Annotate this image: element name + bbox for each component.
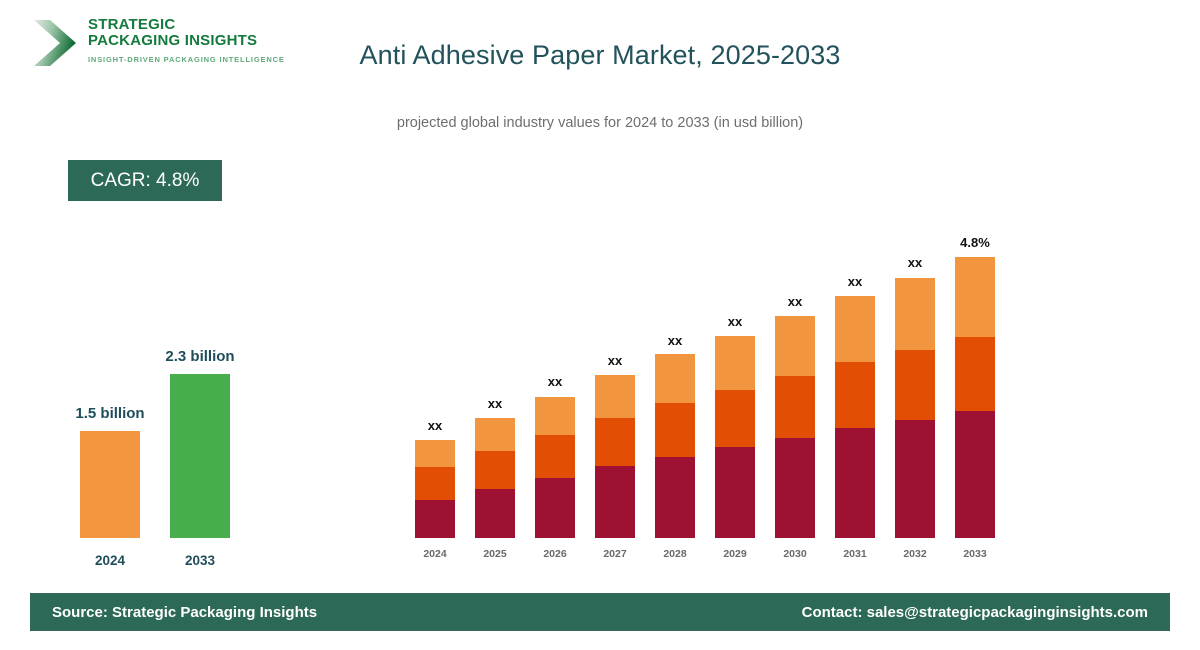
stacked-segment-segment-3-2025 <box>475 418 515 451</box>
stacked-bar-2025 <box>475 418 515 538</box>
stacked-segment-segment-3-2033 <box>955 257 995 337</box>
stacked-bar-year-label-2028: 2028 <box>652 548 698 560</box>
stacked-segment-segment-2-2031 <box>835 362 875 428</box>
stacked-segment-segment-1-2028 <box>655 457 695 538</box>
stacked-bar-2030 <box>775 316 815 538</box>
stacked-bar-year-label-2024: 2024 <box>412 548 458 560</box>
stacked-bar-year-label-2025: 2025 <box>472 548 518 560</box>
bar-value-label-2024: 1.5 billion <box>35 405 185 422</box>
stacked-segment-segment-1-2029 <box>715 447 755 538</box>
bar-value-label-2033: 2.3 billion <box>125 348 275 365</box>
stacked-bar-column-2033: 4.8%2033 <box>955 200 995 560</box>
stacked-segment-segment-2-2028 <box>655 403 695 457</box>
cagr-badge: CAGR: 4.8% <box>68 160 222 201</box>
brand-name-line1: STRATEGIC <box>88 17 285 33</box>
stacked-segment-segment-1-2030 <box>775 438 815 538</box>
stacked-segment-segment-1-2026 <box>535 478 575 538</box>
bar-2024 <box>80 431 140 538</box>
stacked-bar-column-2031: xx2031 <box>835 200 875 560</box>
stacked-bar-column-2028: xx2028 <box>655 200 695 560</box>
stacked-bar-year-label-2026: 2026 <box>532 548 578 560</box>
stacked-bar-value-label-2032: xx <box>885 255 945 270</box>
stacked-bar-2033 <box>955 257 995 538</box>
stacked-segment-segment-1-2027 <box>595 466 635 538</box>
stacked-bar-value-label-2033: 4.8% <box>945 235 1005 250</box>
stacked-segment-segment-1-2031 <box>835 428 875 538</box>
stacked-segment-segment-3-2031 <box>835 296 875 362</box>
stacked-segment-segment-2-2024 <box>415 467 455 500</box>
segment-forecast-chart: xx2024xx2025xx2026xx2027xx2028xx2029xx20… <box>408 200 1008 560</box>
stacked-bar-2032 <box>895 277 935 538</box>
bar-2033 <box>170 374 230 538</box>
stacked-segment-segment-2-2026 <box>535 435 575 478</box>
stacked-bar-year-label-2032: 2032 <box>892 548 938 560</box>
endpoint-comparison-chart: 1.5 billion20242.3 billion2033 <box>50 320 280 570</box>
page-title: Anti Adhesive Paper Market, 2025-2033 <box>0 40 1200 71</box>
stacked-segment-segment-3-2027 <box>595 375 635 418</box>
footer-contact-label: Contact: sales@strategicpackaginginsight… <box>802 604 1170 621</box>
bar-column-2033: 2.3 billion2033 <box>170 320 230 570</box>
bar-year-label-2033: 2033 <box>170 553 230 568</box>
stacked-bar-column-2025: xx2025 <box>475 200 515 560</box>
stacked-bar-value-label-2029: xx <box>705 314 765 329</box>
stacked-bar-column-2032: xx2032 <box>895 200 935 560</box>
stacked-segment-segment-1-2032 <box>895 420 935 538</box>
stacked-bar-year-label-2027: 2027 <box>592 548 638 560</box>
stacked-bar-column-2030: xx2030 <box>775 200 815 560</box>
stacked-segment-segment-2-2032 <box>895 350 935 420</box>
bar-year-label-2024: 2024 <box>80 553 140 568</box>
stacked-bar-value-label-2027: xx <box>585 353 645 368</box>
stacked-segment-segment-2-2025 <box>475 451 515 489</box>
stacked-segment-segment-2-2030 <box>775 376 815 438</box>
stacked-bar-value-label-2028: xx <box>645 333 705 348</box>
stacked-segment-segment-2-2033 <box>955 337 995 411</box>
stacked-segment-segment-2-2029 <box>715 390 755 447</box>
stacked-segment-segment-3-2030 <box>775 316 815 376</box>
stacked-bar-year-label-2031: 2031 <box>832 548 878 560</box>
stacked-bar-2024 <box>415 440 455 538</box>
stacked-segment-segment-3-2024 <box>415 440 455 467</box>
stacked-bar-value-label-2026: xx <box>525 374 585 389</box>
cagr-badge-label: CAGR: 4.8% <box>91 170 200 192</box>
stacked-segment-segment-2-2027 <box>595 418 635 466</box>
footer-bar: Source: Strategic Packaging Insights Con… <box>30 593 1170 631</box>
stacked-bar-2028 <box>655 355 695 538</box>
stacked-segment-segment-3-2029 <box>715 336 755 390</box>
footer-source-label: Source: Strategic Packaging Insights <box>30 604 317 621</box>
stacked-segment-segment-1-2025 <box>475 489 515 538</box>
stacked-bar-value-label-2024: xx <box>405 418 465 433</box>
stacked-bar-column-2027: xx2027 <box>595 200 635 560</box>
stacked-bar-2031 <box>835 296 875 538</box>
page-subtitle: projected global industry values for 202… <box>0 115 1200 131</box>
stacked-segment-segment-3-2032 <box>895 278 935 350</box>
stacked-bar-2027 <box>595 375 635 538</box>
stacked-bar-year-label-2030: 2030 <box>772 548 818 560</box>
stacked-bar-column-2026: xx2026 <box>535 200 575 560</box>
stacked-bar-2029 <box>715 336 755 538</box>
stacked-bar-year-label-2033: 2033 <box>952 548 998 560</box>
stacked-segment-segment-1-2033 <box>955 411 995 538</box>
stacked-bar-value-label-2025: xx <box>465 396 525 411</box>
stacked-bar-value-label-2030: xx <box>765 294 825 309</box>
stacked-segment-segment-3-2026 <box>535 397 575 435</box>
stacked-segment-segment-3-2028 <box>655 354 695 403</box>
stacked-bar-year-label-2029: 2029 <box>712 548 758 560</box>
stacked-bar-column-2029: xx2029 <box>715 200 755 560</box>
stacked-bar-value-label-2031: xx <box>825 274 885 289</box>
stacked-bar-2026 <box>535 396 575 538</box>
stacked-bar-column-2024: xx2024 <box>415 200 455 560</box>
stacked-segment-segment-1-2024 <box>415 500 455 538</box>
